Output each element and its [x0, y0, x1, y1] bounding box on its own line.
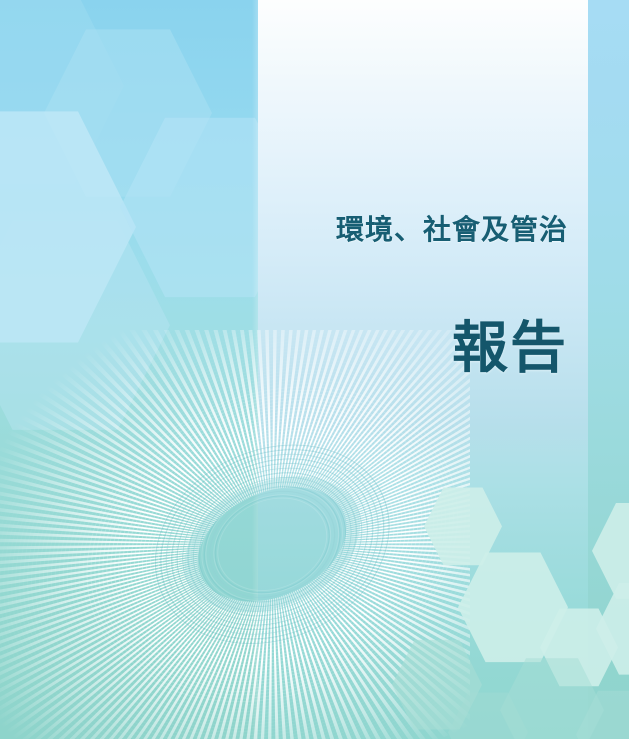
esg-report-cover: 環境、社會及管治 報告 [0, 0, 629, 739]
hexagon-cluster-bottom-right [0, 0, 629, 739]
